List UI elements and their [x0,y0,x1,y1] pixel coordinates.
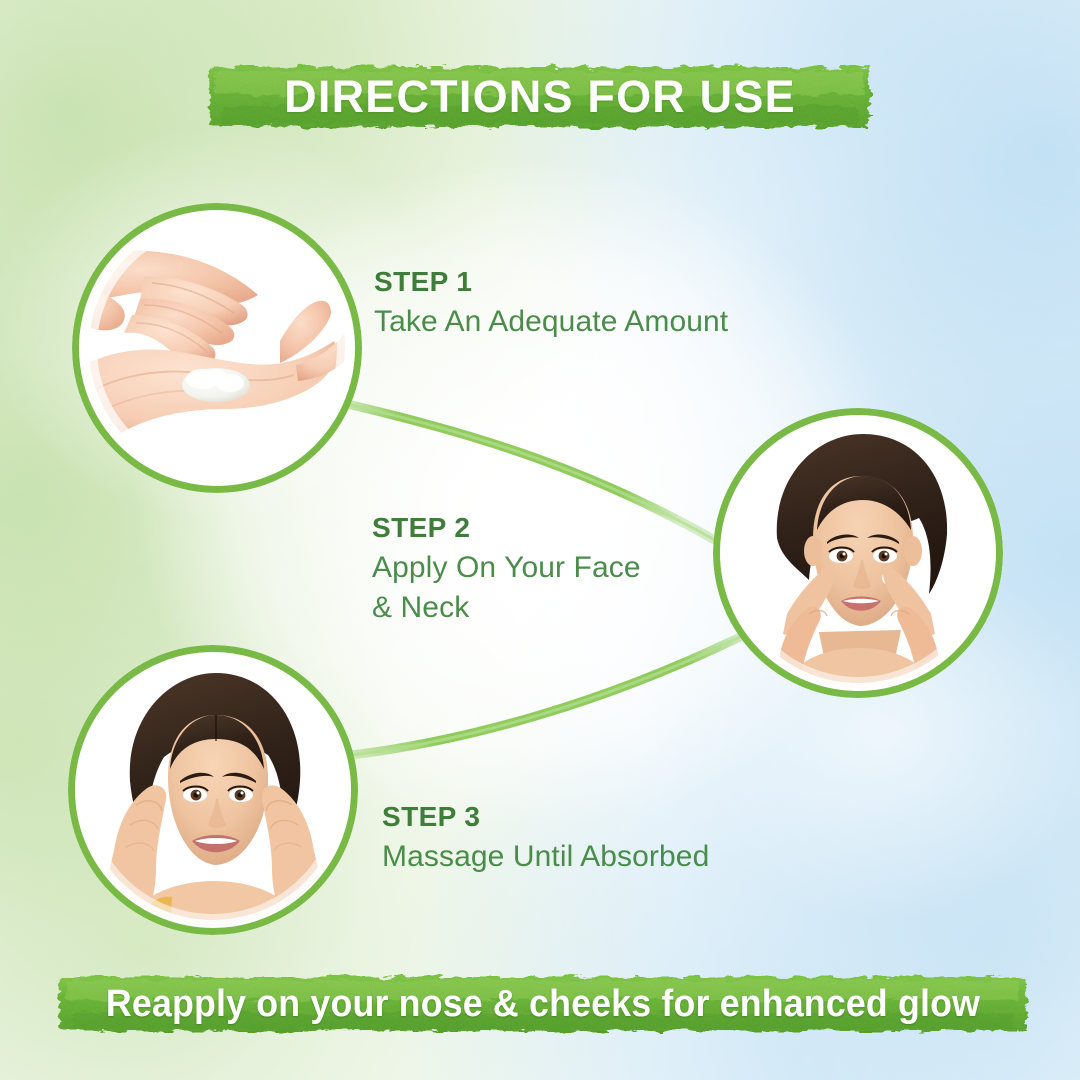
header-banner: DIRECTIONS FOR USE [206,62,874,132]
step-3-description: Massage Until Absorbed [382,837,709,877]
step-1-text: STEP 1 Take An Adequate Amount [374,268,728,342]
connector-step3-to-step2-highlight [336,636,742,757]
step-2-image-circle[interactable] [713,408,1003,698]
connector-step3-to-step2 [336,636,742,757]
step-1-image-circle[interactable] [72,203,362,493]
hands-dispensing-cream-photo [82,213,352,483]
step-2-description-line1: Apply On Your Face [372,548,641,588]
step-3-text: STEP 3 Massage Until Absorbed [382,803,709,877]
directions-for-use-graphic: DIRECTIONS FOR USE [0,0,1080,1080]
step-2-number: STEP 2 [372,514,641,542]
step-2-text: STEP 2 Apply On Your Face & Neck [372,514,641,628]
woman-massaging-face-photo [78,655,348,925]
step-2-photo [723,418,993,688]
page-title: DIRECTIONS FOR USE [284,71,796,123]
step-3-number: STEP 3 [382,803,709,831]
step-3-photo [78,655,348,925]
step-1-photo [82,213,352,483]
step-1-number: STEP 1 [374,268,728,296]
footer-note: Reapply on your nose & cheeks for enhanc… [106,983,980,1026]
footer-banner: Reapply on your nose & cheeks for enhanc… [55,973,1031,1035]
step-3-image-circle[interactable] [68,645,358,935]
step-2-description-line2: & Neck [372,588,641,628]
woman-applying-cream-to-cheeks-photo [723,418,993,688]
step-1-description: Take An Adequate Amount [374,302,728,342]
